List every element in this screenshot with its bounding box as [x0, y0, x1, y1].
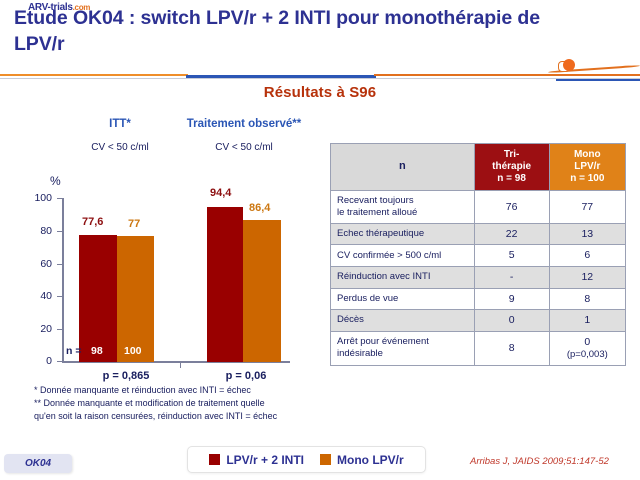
chart-y-axis-label: % — [50, 174, 61, 188]
table-cell-tri: - — [474, 266, 549, 288]
table-cell-tri: 8 — [474, 331, 549, 365]
table-cell-tri: 5 — [474, 245, 549, 267]
table-row: Décès 0 1 — [331, 310, 626, 332]
table-header-mono-l1: Mono — [574, 149, 601, 160]
chart-legend: LPV/r + 2 INTI Mono LPV/r — [187, 446, 426, 473]
table-cell-tri: 0 — [474, 310, 549, 332]
table-cell-label: CV confirmée > 500 c/ml — [331, 245, 475, 267]
table-cell-mono: 1 — [549, 310, 625, 332]
table-header-mono-l2: LPV/r — [574, 161, 600, 172]
bar-itt-tritherapie — [79, 235, 117, 362]
table-cell-tri: 76 — [474, 191, 549, 224]
bar-value-obs-tritherapie: 94,4 — [210, 187, 231, 199]
bar-itt-mono — [117, 236, 154, 362]
bar-value-itt-tritherapie: 77,6 — [82, 216, 103, 228]
table-cell-label: Arrêt pour événement indésirable — [331, 331, 475, 365]
table-header-mono: Mono LPV/r n = 100 — [549, 144, 625, 191]
results-table: n Tri- thérapie n = 98 Mono LPV/r n = 10… — [330, 143, 626, 366]
table-header-row: n Tri- thérapie n = 98 Mono LPV/r n = 10… — [331, 144, 626, 191]
table-header-tri-l3: n = 98 — [497, 173, 526, 184]
arv-trials-logo — [548, 56, 640, 78]
table-cell-mono-pvalue: (p=0,003) — [567, 349, 608, 360]
chart-n-prefix: n = — [66, 345, 81, 357]
chart-pvalue-itt: p = 0,865 — [66, 370, 186, 382]
chart-footnotes: * Donnée manquante et réinduction avec I… — [34, 384, 334, 423]
table-row: Recevant toujours le traitement alloué 7… — [331, 191, 626, 224]
table-cell-label: Perdus de vue — [331, 288, 475, 310]
bar-obs-tritherapie — [207, 207, 243, 362]
footnote-2: ** Donnée manquante et modification de t… — [34, 397, 334, 410]
reference-citation: Arribas J, JAIDS 2009;51:147-52 — [470, 456, 609, 467]
table-cell-label: Décès — [331, 310, 475, 332]
table-row: Arrêt pour événement indésirable 8 0 (p=… — [331, 331, 626, 365]
table-cell-mono: 13 — [549, 223, 625, 245]
table-label-line2: le traitement alloué — [337, 207, 417, 218]
divider-hairline — [0, 78, 640, 79]
legend-item-mono: Mono LPV/r — [320, 453, 404, 467]
table-cell-mono: 0 (p=0,003) — [549, 331, 625, 365]
bar-n-itt-tritherapie: 98 — [91, 345, 103, 357]
table-row: Perdus de vue 9 8 — [331, 288, 626, 310]
bar-n-itt-mono: 100 — [124, 345, 142, 357]
study-badge-label: OK04 — [25, 458, 51, 469]
table-cell-mono: 12 — [549, 266, 625, 288]
table-row: Echec thérapeutique 22 13 — [331, 223, 626, 245]
bar-value-obs-mono: 86,4 — [249, 202, 270, 214]
footnote-1: * Donnée manquante et réinduction avec I… — [34, 384, 334, 397]
table-header-tritherapie: Tri- thérapie n = 98 — [474, 144, 549, 191]
table-cell-label: Echec thérapeutique — [331, 223, 475, 245]
table-cell-label: Réinduction avec INTI — [331, 266, 475, 288]
legend-swatch-icon-red — [209, 454, 220, 465]
bar-chart: ITT* Traitement observé** CV < 50 c/ml C… — [0, 112, 326, 412]
chart-pvalue-obs: p = 0,06 — [186, 370, 306, 382]
table-cell-mono: 6 — [549, 245, 625, 267]
logo-text: ARV-trials.com — [28, 2, 90, 13]
table-label-line1: Arrêt pour événement — [337, 336, 429, 347]
footnote-3: qu'en soit la raison censurées, réinduct… — [34, 410, 334, 423]
divider-orange-left — [0, 74, 188, 76]
legend-label-mono: Mono LPV/r — [337, 453, 404, 467]
divider-blue-right — [556, 79, 640, 81]
table-header-tri-l1: Tri- — [504, 149, 520, 160]
table-cell-mono: 77 — [549, 191, 625, 224]
table-label-line1: Recevant toujours — [337, 195, 414, 206]
table-cell-mono-value: 0 — [584, 336, 590, 348]
table-cell-mono: 8 — [549, 288, 625, 310]
table-header-n: n — [331, 144, 475, 191]
table-cell-tri: 22 — [474, 223, 549, 245]
chart-group-subtitle-1: CV < 50 c/ml — [60, 142, 180, 153]
table-row: CV confirmée > 500 c/ml 5 6 — [331, 245, 626, 267]
legend-swatch-icon-orange — [320, 454, 331, 465]
table-cell-label: Recevant toujours le traitement alloué — [331, 191, 475, 224]
chart-group-subtitle-2: CV < 50 c/ml — [166, 142, 322, 153]
chart-group-title-2: Traitement observé** — [166, 118, 322, 130]
logo-pill-icon — [558, 59, 575, 71]
table-cell-tri: 9 — [474, 288, 549, 310]
table-row: Réinduction avec INTI - 12 — [331, 266, 626, 288]
chart-bars — [0, 198, 326, 362]
legend-label-tritherapie: LPV/r + 2 INTI — [226, 453, 304, 467]
slide-subtitle: Résultats à S96 — [0, 84, 640, 101]
table-header-mono-l3: n = 100 — [570, 173, 604, 184]
table-label-line2: indésirable — [337, 348, 383, 359]
study-badge: OK04 — [4, 454, 72, 473]
bar-obs-mono — [243, 220, 281, 362]
page-title: Etude OK04 : switch LPV/r + 2 INTI pour … — [14, 6, 574, 57]
table-header-tri-l2: thérapie — [492, 161, 531, 172]
legend-item-tritherapie: LPV/r + 2 INTI — [209, 453, 304, 467]
bar-value-itt-mono: 77 — [128, 218, 140, 230]
chart-group-title-1: ITT* — [60, 118, 180, 130]
